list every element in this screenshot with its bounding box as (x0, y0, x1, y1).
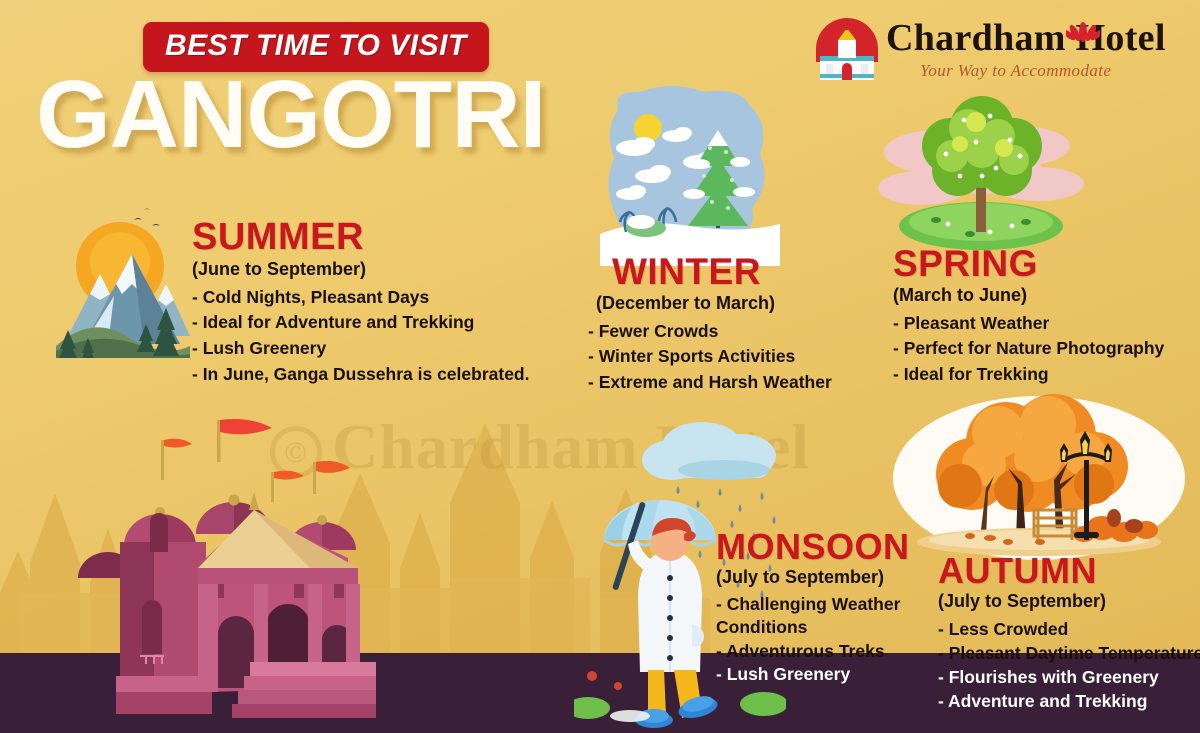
snowy-tree-icon (600, 84, 780, 266)
logo-brand-name: Chardham Hotel (886, 16, 1166, 60)
season-bullets-winter: - Fewer Crowds - Winter Sports Activitie… (588, 319, 832, 396)
season-title-monsoon: MONSOON (716, 528, 910, 566)
list-item: - Fewer Crowds (588, 319, 832, 345)
season-block-monsoon: MONSOON (July to September) - Challengin… (716, 528, 910, 687)
list-item: - Flourishes with Greenery (938, 665, 1200, 689)
list-item: - Ideal for Trekking (893, 362, 1164, 388)
list-item: - Extreme and Harsh Weather (588, 370, 832, 396)
season-block-autumn: AUTUMN (July to September) - Less Crowde… (938, 552, 1200, 713)
logo-tagline: Your Way to Accommodate (920, 61, 1111, 81)
season-bullets-spring: - Pleasant Weather - Perfect for Nature … (893, 311, 1164, 388)
list-item: Conditions (716, 616, 910, 639)
list-item: - Ideal for Adventure and Trekking (192, 310, 529, 336)
season-block-spring: SPRING (March to June) - Pleasant Weathe… (893, 245, 1164, 387)
list-item: - Adventurous Treks (716, 640, 910, 663)
list-item: - Winter Sports Activities (588, 344, 832, 370)
autumn-tree-icon (888, 388, 1190, 574)
season-title-spring: SPRING (893, 245, 1164, 284)
list-item: - Adventure and Trekking (938, 689, 1200, 713)
list-item: - Lush Greenery (716, 663, 910, 686)
list-item: - In June, Ganga Dussehra is celebrated. (192, 362, 529, 388)
list-item: - Perfect for Nature Photography (893, 336, 1164, 362)
season-bullets-monsoon: - Challenging Weather Conditions - Adven… (716, 593, 910, 687)
snowy-mountain-icon (48, 196, 198, 358)
brand-logo[interactable]: Chardham Hotel Your Way to Accommodate (808, 14, 1188, 92)
season-months-spring: (March to June) (893, 285, 1164, 306)
season-title-summer: SUMMER (192, 218, 529, 258)
infographic-poster: ©Chardham Hotel BEST TIME TO VISIT GANGO… (0, 0, 1200, 733)
season-bullets-summer: - Cold Nights, Pleasant Days - Ideal for… (192, 285, 529, 387)
list-item: - Lush Greenery (192, 336, 529, 362)
season-months-autumn: (July to September) (938, 591, 1200, 612)
gangotri-temple-icon (58, 418, 406, 733)
season-bullets-autumn: - Less Crowded - Pleasant Daytime Temper… (938, 617, 1200, 714)
season-title-autumn: AUTUMN (938, 552, 1200, 590)
page-title: GANGOTRI (36, 68, 545, 162)
season-block-summer: SUMMER (June to September) - Cold Nights… (192, 218, 529, 387)
list-item: - Cold Nights, Pleasant Days (192, 285, 529, 311)
lotus-flower-icon (1066, 14, 1100, 42)
season-title-winter: WINTER (612, 253, 832, 292)
list-item: - Less Crowded (938, 617, 1200, 641)
season-months-winter: (December to March) (596, 293, 832, 314)
season-block-winter: WINTER (December to March) - Fewer Crowd… (588, 253, 832, 395)
temple-logo-icon (814, 16, 880, 82)
list-item: - Pleasant Weather (893, 311, 1164, 337)
list-item: - Challenging Weather (716, 593, 910, 616)
green-tree-icon (878, 84, 1084, 256)
season-months-summer: (June to September) (192, 259, 529, 280)
season-months-monsoon: (July to September) (716, 567, 910, 588)
list-item: - Pleasant Daytime Temperature (938, 641, 1200, 665)
